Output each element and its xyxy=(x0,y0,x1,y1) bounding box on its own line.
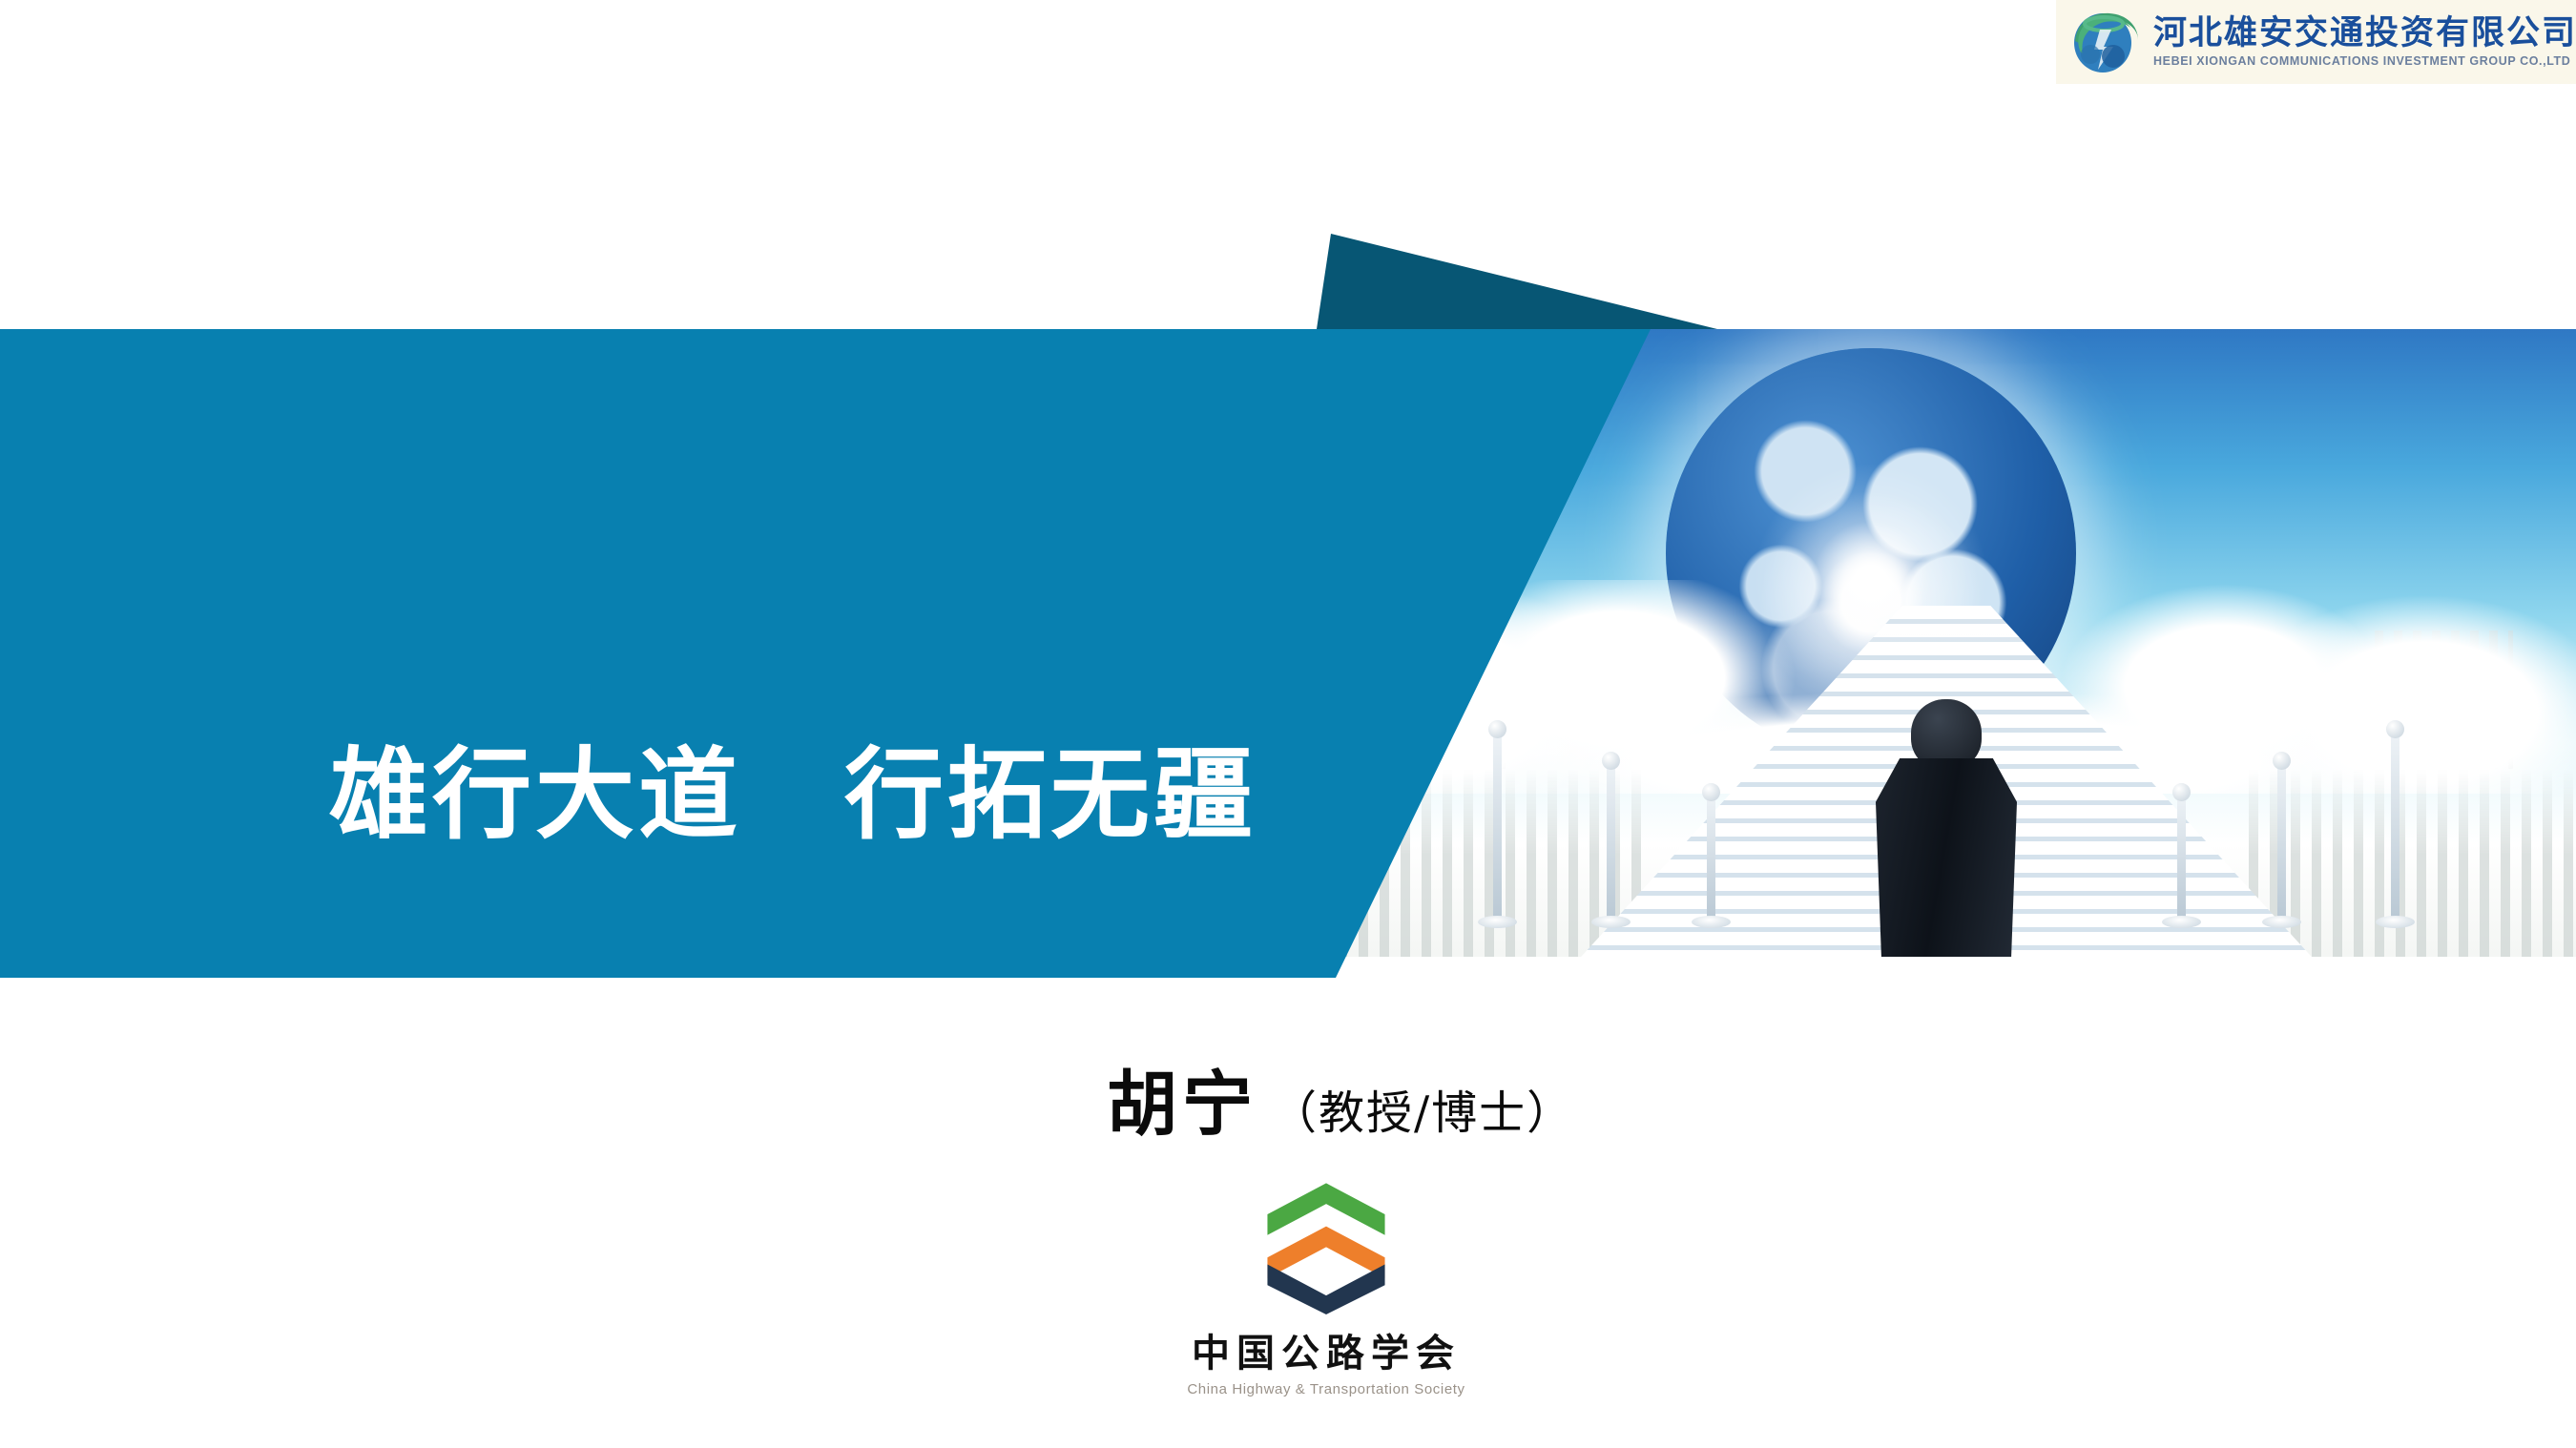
corporate-logo: 河北雄安交通投资有限公司 HEBEI XIONGAN COMMUNICATION… xyxy=(2056,0,2576,84)
city-skyline-right xyxy=(2249,769,2576,957)
presentation-slide: 河北雄安交通投资有限公司 HEBEI XIONGAN COMMUNICATION… xyxy=(0,0,2576,1448)
businessman-body xyxy=(1876,758,2017,957)
handrail-post xyxy=(2391,731,2399,919)
society-logo: 中国公路学会 China Highway & Transportation So… xyxy=(1183,1178,1469,1397)
society-name-en: China Highway & Transportation Society xyxy=(1187,1381,1465,1397)
presenter-titles: （教授/博士） xyxy=(1271,1075,1574,1142)
handrail-post xyxy=(2277,762,2286,920)
corporate-logo-text: 河北雄安交通投资有限公司 HEBEI XIONGAN COMMUNICATION… xyxy=(2153,17,2576,68)
businessman-silhouette xyxy=(1876,699,2017,957)
page-title: 雄行大道 行拓无疆 xyxy=(329,741,1257,848)
handrail-post xyxy=(1607,762,1615,920)
hero-band: 雄行大道 行拓无疆 ——雄安交投企业文化品牌解读与落地实施 xyxy=(0,234,2576,978)
page-subtitle: ——雄安交投企业文化品牌解读与落地实施 xyxy=(296,997,1184,1064)
society-name-cn: 中国公路学会 xyxy=(1192,1322,1461,1377)
presenter-name: 胡宁 xyxy=(1107,1047,1257,1149)
xiongan-globe-swoosh-icon xyxy=(2071,9,2142,75)
handrail-post xyxy=(2177,794,2186,920)
hexagon-chevron-icon xyxy=(1256,1178,1397,1314)
corporate-name-cn: 河北雄安交通投资有限公司 xyxy=(2153,17,2576,51)
accent-triangle xyxy=(1317,234,1717,329)
presenter-credit: 胡宁 （教授/博士） xyxy=(1107,1047,1574,1149)
handrail-post xyxy=(1707,794,1715,920)
handrail-post xyxy=(1493,731,1502,919)
corporate-name-en: HEBEI XIONGAN COMMUNICATIONS INVESTMENT … xyxy=(2153,55,2576,68)
